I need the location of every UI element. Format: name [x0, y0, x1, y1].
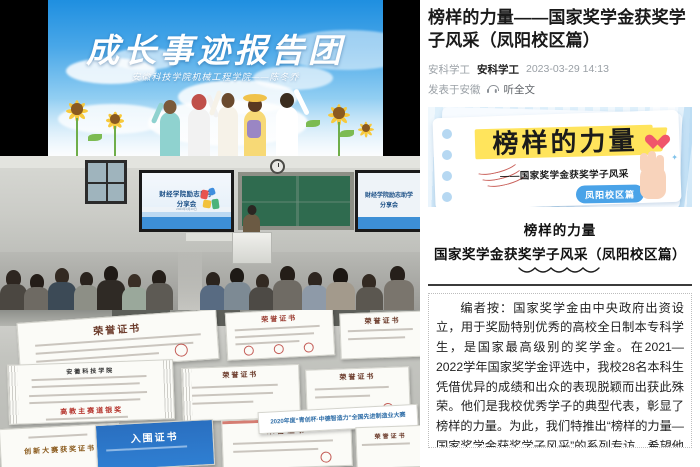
- sunflower-core: [110, 114, 120, 124]
- certificate-heading: 荣誉证书: [306, 370, 408, 384]
- audience-body: [200, 285, 226, 310]
- horizontal-divider: [428, 284, 692, 286]
- banner-subtitle-text: ——国家奖学金获奖学子风采: [500, 166, 629, 182]
- article-title: 榜样的力量——国家奖学金获奖学子风采（凤阳校区篇）: [428, 6, 692, 53]
- headline-line-1: 榜样的力量: [428, 219, 692, 239]
- certificate-seal: [274, 344, 285, 355]
- author-label[interactable]: 安科学工: [477, 62, 519, 77]
- audience-body: [302, 285, 328, 310]
- child-head: [192, 94, 207, 110]
- certificates-photo: 荣誉证书 荣誉证书 荣誉证书: [0, 310, 420, 467]
- slide-image: 成长事迹报告团 安徽科技学院机械工程学院——陈冬乔: [48, 0, 383, 156]
- certificate-heading: 安徽科技学院: [8, 363, 172, 378]
- child-figure: [160, 112, 180, 156]
- article-preview-page: 成长事迹报告团 安徽科技学院机械工程学院——陈冬乔: [0, 0, 700, 467]
- projected-slide-photo: 成长事迹报告团 安徽科技学院机械工程学院——陈冬乔: [0, 0, 420, 156]
- child-head: [222, 93, 235, 108]
- audience-body: [249, 287, 275, 310]
- audience-body: [356, 287, 383, 310]
- notebook-holes: [442, 129, 452, 207]
- notebook-hole: [442, 192, 452, 202]
- wavy-underline-icon: [517, 266, 603, 276]
- leaf-shape: [88, 134, 102, 141]
- child-hat: [243, 94, 267, 102]
- editor-note-text: 编者按：国家奖学金由中央政府出资设立，用于奖励特别优秀的高校全日制本专科学生，是…: [436, 299, 684, 448]
- audience-area: [0, 248, 420, 310]
- publish-datetime: 2023-03-29 14:13: [526, 63, 609, 75]
- audience-body: [24, 287, 50, 310]
- audience-body: [273, 280, 302, 310]
- certificate-item: 荣誉证书: [355, 425, 420, 467]
- certificate-heading: 荣誉证书: [340, 315, 420, 328]
- certificate-heading: 荣誉证书: [182, 368, 298, 382]
- speaker-head: [247, 205, 256, 215]
- certificate-seal: [244, 345, 255, 356]
- photo-column: 成长事迹报告团 安徽科技学院机械工程学院——陈冬乔: [0, 0, 420, 467]
- article-column: 榜样的力量——国家奖学金获奖学子风采（凤阳校区篇） 安科学工 安科学工 2023…: [420, 0, 700, 467]
- certificate-item: 入围证书: [95, 419, 215, 467]
- banner-campus-badge: 凤阳校区篇: [576, 184, 644, 203]
- listen-full-text-button[interactable]: 听全文: [504, 82, 536, 97]
- sunflower-core: [71, 103, 82, 114]
- source-account-label[interactable]: 安科学工: [428, 62, 470, 77]
- certificate-item: 荣誉证书: [225, 310, 335, 361]
- audience-body: [0, 284, 27, 310]
- leaf-shape: [340, 130, 354, 137]
- certificate-seal: [320, 451, 331, 462]
- article-meta-primary: 安科学工 安科学工 2023-03-29 14:13: [428, 62, 692, 77]
- article-banner-image: 榜样的力量 ——国家奖学金获奖学子风采 凤阳校区篇 ✦: [428, 107, 692, 207]
- hall-ceiling: [0, 156, 420, 168]
- slide-title-text: 成长事迹报告团: [48, 24, 383, 72]
- certificate-heading: 荣誉证书: [356, 430, 420, 441]
- certificate-item: 安徽科技学院 高教主赛道银奖: [7, 359, 175, 425]
- sunflower-core: [333, 107, 344, 118]
- child-figure: [188, 108, 210, 156]
- audience-body: [146, 283, 173, 310]
- wall-clock-icon: [270, 159, 285, 174]
- sunflower-stem: [114, 126, 116, 156]
- child-head: [164, 100, 177, 114]
- lecture-hall-photo: 财经学院励志助学 分享会 2023年3月20日 财经学院励志助学 分享会: [0, 156, 420, 310]
- window-shape: [85, 160, 127, 204]
- headphone-icon[interactable]: [487, 85, 498, 94]
- projection-screen-side: 财经学院励志助学 分享会: [355, 170, 420, 232]
- sparkle-icon: ✦: [671, 153, 678, 162]
- child-figure: [218, 106, 238, 156]
- article-headline-block: 榜样的力量 国家奖学金获奖学子风采（凤阳校区篇）: [428, 219, 692, 276]
- audience-body: [74, 285, 99, 310]
- editor-note-box: 编者按：国家奖学金由中央政府出资设立，用于奖励特别优秀的高校全日制本专科学生，是…: [428, 293, 692, 448]
- screen-bottom-bar: [142, 217, 231, 229]
- audience-body: [384, 280, 414, 310]
- publish-location: 发表于安徽: [428, 82, 481, 97]
- sunflower-icon: [356, 118, 376, 138]
- screen-title-line1: 财经学院励志助学: [358, 190, 420, 199]
- certificate-item: 荣誉证书: [339, 311, 420, 360]
- certificate-seal: [174, 343, 188, 357]
- article-meta-secondary: 发表于安徽 听全文: [428, 82, 692, 97]
- audience-body: [48, 282, 76, 310]
- sunflower-stem: [76, 118, 78, 156]
- screen-decoration: [199, 188, 225, 214]
- notebook-hole: [442, 171, 452, 181]
- notebook-hole: [442, 129, 452, 139]
- chalkboard-divider: [242, 201, 350, 203]
- audience-body: [224, 282, 251, 310]
- screen-title-line2: 分享会: [358, 200, 420, 209]
- child-head: [280, 93, 294, 108]
- child-backpack: [247, 120, 261, 138]
- projection-screen-main: 财经学院励志助学 分享会 2023年3月20日: [139, 170, 234, 232]
- leaf-shape: [306, 120, 320, 127]
- certificate-heading: 入围证书: [96, 426, 213, 447]
- certificate-seal: [303, 342, 314, 353]
- sunflower-stem: [338, 122, 340, 156]
- audience-body: [122, 287, 148, 310]
- audience-body: [97, 280, 125, 310]
- hand-pointing-icon: [636, 151, 670, 201]
- child-figure: [276, 106, 298, 156]
- notebook-hole: [442, 150, 452, 160]
- screen-bottom-bar: [358, 217, 420, 229]
- palm-shape: [640, 165, 666, 199]
- aisle: [178, 248, 202, 310]
- slide-subtitle-text: 安徽科技学院机械工程学院——陈冬乔: [48, 70, 383, 83]
- child-figure: [244, 110, 266, 156]
- heart-icon: [645, 135, 662, 151]
- audience-body: [326, 282, 355, 310]
- front-desk: [185, 232, 233, 242]
- headline-line-2: 国家奖学金获奖学子风采（凤阳校区篇）: [428, 243, 692, 263]
- certificate-heading: 2020年度“青创杯·中德智造力”全国先进制造业大赛: [259, 409, 417, 426]
